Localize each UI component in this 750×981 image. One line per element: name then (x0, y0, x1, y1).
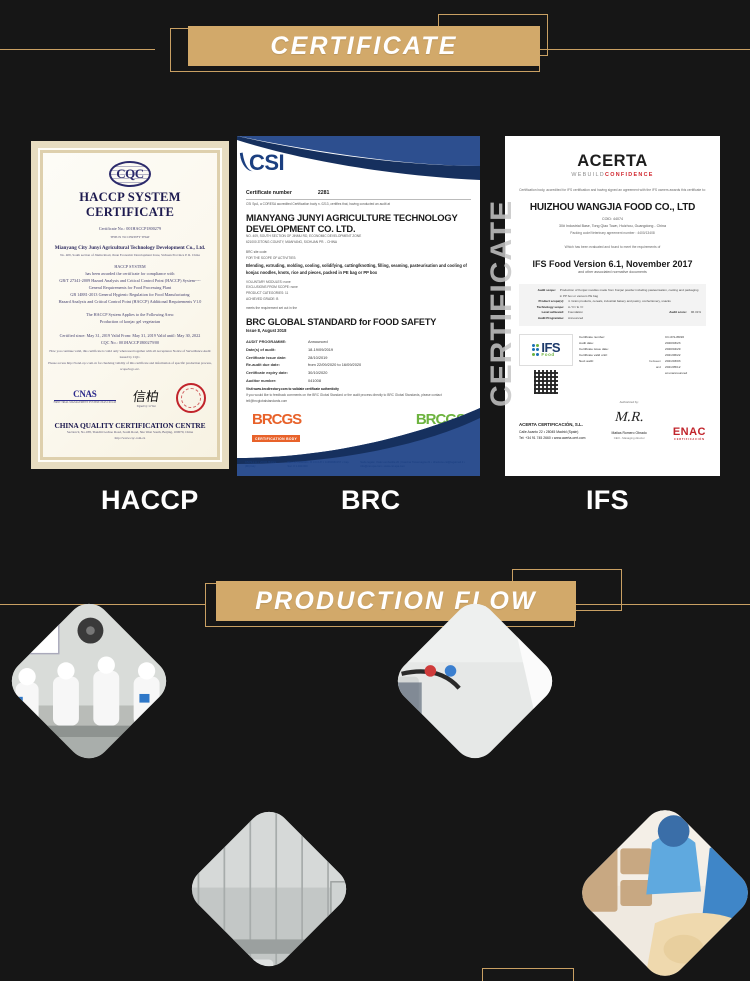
ifs-audit-score-value: 96.31% (691, 310, 701, 316)
brc-detail-label: Certificate expiry date: (246, 369, 308, 377)
photo-checking-image (573, 801, 750, 981)
photo-forming[interactable] (183, 803, 356, 976)
ifs-packing-code: Packing code/Veterinary agreement number… (519, 230, 706, 236)
haccp-awarded: has been awarded the certificate for com… (45, 270, 215, 277)
ifs-version: IFS Food Version 6.1, November 2017 (519, 259, 706, 269)
brc-detail-label: Auditor number: (246, 377, 308, 385)
brc-footer-3: Sede legale: Viale Lombardia 20 | Cascin… (360, 461, 474, 470)
ifs-issuer-block: ACERTA CERTIFICACIÓN, S.L. Calle Acanto … (519, 421, 586, 441)
product-detail-page: CERTIFICATE CQC HACCP SYSTEM CERTIFICATE… (0, 0, 750, 981)
haccp-disclaimer-1: How you continue valid, this certificate… (45, 349, 215, 361)
haccp-scope-value: Production of konjac gel vegetarian (45, 318, 215, 325)
brc-certnumber-label: Certificate number (246, 190, 292, 196)
haccp-system: HACCP SYSTEM (45, 263, 215, 270)
brc-address-2: 621000 ZITONG COUNTY, MIANYANG, SICHUAN … (246, 240, 471, 246)
ifs-panel-label: Audit scope: (524, 288, 560, 299)
photo-checking[interactable] (573, 801, 750, 981)
ifs-meta-label (579, 370, 635, 376)
cnas-label: CNAS (54, 390, 116, 401)
haccp-standard-2: General Requirements for Food Processing… (45, 284, 215, 291)
haccp-certify-line: THIS IS TO CERTIFY THAT (45, 235, 215, 241)
brc-standard-title: BRC GLOBAL STANDARD for FOOD SAFETY (246, 317, 471, 327)
acerta-wordmark: ACERTA (519, 152, 706, 171)
enac-sub: CERTIFICACIÓN (673, 438, 706, 441)
cqc-logo-icon: CQC (109, 161, 151, 187)
certificate-gallery: CQC HACCP SYSTEM CERTIFICATE Certificate… (0, 136, 750, 476)
enac-main: ENAC (673, 426, 706, 438)
banner-bar: CERTIFICATE (188, 26, 540, 66)
ifs-panel-row: Audit scope:Production of Konjac noodles… (524, 288, 701, 299)
enac-logo-icon: ENAC CERTIFICACIÓN (673, 426, 706, 441)
ifs-meta-value: at unannounced (665, 370, 687, 376)
signature-caption: Signed by: Li Wei (133, 405, 159, 410)
ifs-other-docs: and other associated normative documents (519, 269, 706, 276)
ifs-evaluated: Which has been evaluated and found to me… (519, 244, 706, 250)
brc-company: MIANYANG JUNYI AGRICULTURE TECHNOLOGY DE… (246, 212, 471, 234)
brc-detail-value: from 22/09/2020 to 16/09/2020 (308, 361, 361, 369)
haccp-footer-title: CHINA QUALITY CERTIFICATION CENTRE (45, 421, 215, 430)
brc-scope-text: Blending, extruding, molding, cooling, s… (246, 262, 471, 277)
haccp-standard-1: GB/T 27341-2009 Hazard Analysis and Crit… (45, 277, 215, 284)
acerta-tagline: WEBUILDCONFIDENCE (519, 172, 706, 178)
ifs-meta-table: Certificate number:CC-IFS-88/20 Audit da… (579, 334, 706, 394)
brc-detail-label: Date(s) of audit: (246, 346, 308, 354)
ifs-issuer-name: ACERTA CERTIFICACIÓN, S.L. (519, 422, 583, 427)
haccp-signature-block: 信柏 Signed by: Li Wei (133, 386, 159, 410)
red-seal-icon (176, 383, 206, 413)
ifs-issuer-contact: Tel: +34 91 745 2660 • www.acerta-cert.c… (519, 435, 586, 441)
cqc-logo-text: CQC (111, 163, 149, 185)
brc-detail-row: AUDIT PROGRAMME:Announced (246, 338, 471, 346)
haccp-standard-4: Hazard Analysis and Critical Control Poi… (45, 298, 215, 305)
ifs-coid: COID: 44074 (519, 216, 706, 223)
acerta-logo: ACERTA WEBUILDCONFIDENCE (519, 152, 706, 178)
certificate-card-brc[interactable]: CSI Certificate number 2281 CSI SpA, a C… (237, 136, 480, 476)
certificate-section-title: CERTIFICATE (270, 32, 457, 61)
ifs-meta-spacer (635, 370, 665, 376)
forming-illustration (183, 803, 356, 976)
brc-detail-value: 28/10/2019 (308, 354, 327, 362)
haccp-disclaimer-2: Please access http://bond.cqc.com.cn for… (45, 361, 215, 373)
bottom-decoration-box (482, 968, 574, 981)
banner-rule-right (540, 49, 750, 50)
brc-meets: meets the requirement set out in the (246, 306, 471, 312)
haccp-footer-address: Section 9, No.188, Tianditi Lechao Road,… (45, 430, 215, 436)
brc-detail-label: Certificate issue date: (246, 354, 308, 362)
signature-glyph: 信柏 (132, 386, 161, 405)
haccp-scope-label: The HACCP System Applies to the Followin… (45, 311, 215, 318)
banner-rule-left (0, 49, 155, 50)
photo-forming-image (183, 803, 356, 976)
brc-detail-value: Announced (308, 338, 328, 346)
ifs-badge-word: IFS Food (541, 342, 560, 358)
ifs-panel-value: Announced (568, 316, 583, 322)
haccp-company: Mianyang City Junyi Agricultural Technol… (45, 244, 215, 253)
caption-brc: BRC (341, 485, 400, 516)
ifs-food-badge-icon: IFS Food (519, 334, 573, 366)
brc-issue: Issue 8, August 2018 (246, 327, 471, 334)
brc-footer-1: CSI S.p.A. • 20021 Bollate (MI) Italy (245, 461, 277, 470)
production-flow-section-title: PRODUCTION FLOW (255, 587, 537, 616)
caption-ifs: IFS (586, 485, 629, 516)
brc-details-table: AUDIT PROGRAMME:Announced Date(s) of aud… (246, 338, 471, 384)
certificate-section-banner: CERTIFICATE (0, 10, 750, 90)
ifs-signature-block: Authorized by: M.R. Matias Romero Obrado… (612, 400, 647, 442)
brc-certnumber-row: Certificate number 2281 (246, 190, 471, 200)
brc-footer-2: REA MI 1466939 • R.I./C.F./P.I. 11360960… (287, 461, 350, 470)
ifs-panel-label: Audit Programme: (524, 316, 568, 322)
haccp-standard-3: GB 14881-2013 General Hygienic Regulatio… (45, 291, 215, 298)
csi-logo: CSI (249, 150, 284, 176)
haccp-address: No. 409, South section of Jinmu Road, Ji… (45, 253, 215, 259)
brc-accreditation: CSI SpA, a CORESA accredited Certificati… (246, 202, 471, 208)
brc-detail-value: 30/10/2020 (308, 369, 327, 377)
haccp-marks-row: CNAS FIRST TRIAL MANAGEMENT SYSTEM CNAS … (45, 381, 215, 415)
production-flow-diagram: Selecting (0, 630, 750, 981)
ifs-signer-title: CEO - Managing director (612, 436, 647, 441)
ifs-panel-value: 4. Grain products, cereals, industrial b… (568, 299, 671, 305)
certificate-captions: HACCP BRC IFS (0, 485, 750, 531)
ifs-panel-row: Audit Programme:Announced (524, 316, 701, 322)
brc-detail-row: Auditor number:041008 (246, 377, 471, 385)
brc-detail-label: AUDIT PROGRAMME: (246, 338, 308, 346)
haccp-cqc-no: CQC No.: 001HACCP1800279/00 (45, 339, 215, 346)
brc-achieved-grade: ACHIEVED GRADE: B (246, 297, 471, 303)
haccp-footer-url: http://www.cqc.com.cn (45, 436, 215, 442)
brc-detail-value: 18-19/09/2019 (308, 346, 333, 354)
brc-detail-row: Certificate issue date:28/10/2019 (246, 354, 471, 362)
haccp-cert-no: Certificate No.: 001HACCP1800279 (45, 225, 215, 232)
certificate-card-ifs[interactable]: ACERTA WEBUILDCONFIDENCE Certification b… (505, 136, 720, 476)
certificate-card-haccp[interactable]: CQC HACCP SYSTEM CERTIFICATE Certificate… (31, 141, 229, 469)
brc-detail-value: 041008 (308, 377, 321, 385)
acerta-tagline-grey: WEBUILD (571, 172, 605, 178)
ifs-signature-glyph: M.R. (608, 405, 650, 430)
caption-haccp: HACCP (101, 485, 199, 516)
ifs-panel-value: Production of Konjac noodles made from K… (560, 288, 701, 299)
banner-rule-left (0, 604, 205, 605)
brc-detail-row: Certificate expiry date:30/10/2020 (246, 369, 471, 377)
haccp-dates: Certified since: May 31, 2019 Valid From… (45, 332, 215, 339)
ifs-lower-block: IFS Food Certificate number:CC-IFS-88/20… (519, 334, 706, 394)
brc-detail-row: Date(s) of audit:18-19/09/2019 (246, 346, 471, 354)
ifs-company: HUIZHOU WANGJIA FOOD CO., LTD (519, 202, 706, 213)
brc-detail-row: Re-audit due date:from 22/09/2020 to 16/… (246, 361, 471, 369)
brc-footer-info: CSI S.p.A. • 20021 Bollate (MI) Italy RE… (245, 461, 474, 470)
brc-feedback-line: If you would like to feedback comments o… (246, 393, 471, 405)
ifs-dots-icon (532, 344, 540, 356)
brc-certnumber-value: 2281 (318, 190, 330, 196)
checking-illustration (573, 801, 750, 981)
banner-bar: PRODUCTION FLOW (216, 581, 576, 621)
ifs-footer: ACERTA CERTIFICACIÓN, S.L. Calle Acanto … (519, 400, 706, 442)
haccp-title: HACCP SYSTEM CERTIFICATE (45, 190, 215, 220)
acerta-tagline-red: CONFIDENCE (605, 172, 654, 178)
ifs-scope-panel: Audit scope:Production of Konjac noodles… (519, 284, 706, 325)
cnas-sub: FIRST TRIAL MANAGEMENT SYSTEM CNAS C001-… (54, 401, 116, 406)
ifs-preamble: Certification body, accredited for IFS c… (519, 187, 706, 193)
qr-code-icon (534, 370, 558, 394)
ifs-address: 30# Industrial Base, Tong Qiao Town, Hui… (519, 223, 706, 230)
ifs-meta-row: at unannounced (579, 370, 706, 376)
ifs-audit-score-label: Audit score: (657, 310, 691, 316)
cnas-mark-icon: CNAS FIRST TRIAL MANAGEMENT SYSTEM CNAS … (54, 390, 116, 406)
brc-detail-label: Re-audit due date: (246, 361, 308, 369)
ifs-badge-column: IFS Food (519, 334, 573, 394)
